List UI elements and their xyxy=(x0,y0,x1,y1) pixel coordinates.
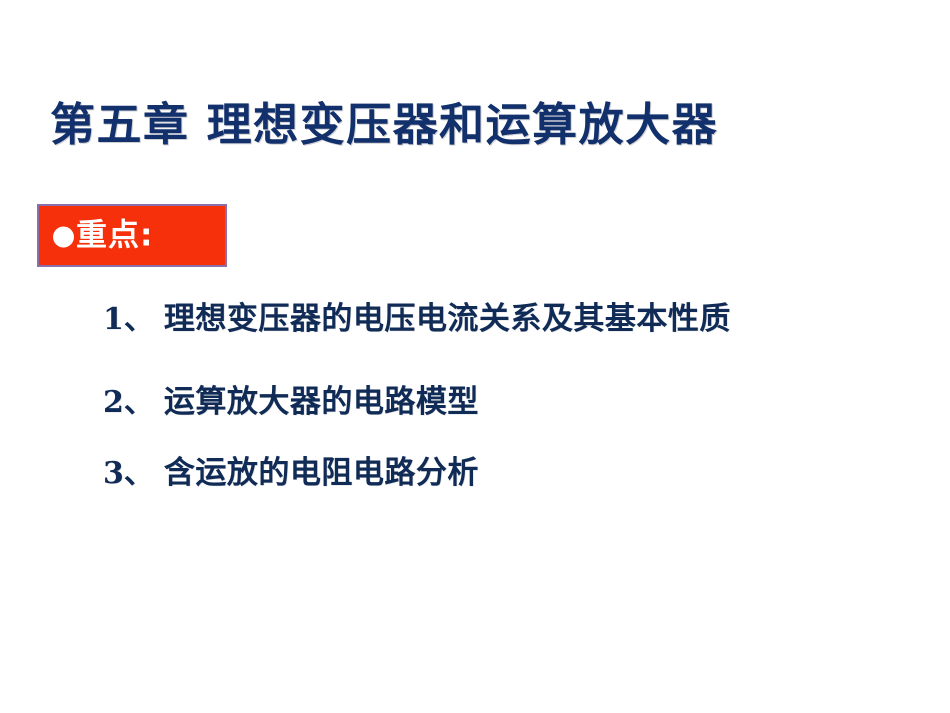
list-item: 3、含运放的电阻电路分析 xyxy=(103,454,903,493)
list-item-label: 理想变压器的电压电流关系及其基本性质 xyxy=(164,300,731,339)
list-item-label: 含运放的电阻电路分析 xyxy=(164,454,479,493)
list-item-separator: 、 xyxy=(124,301,154,339)
key-points-list: 1、理想变压器的电压电流关系及其基本性质 2、运算放大器的电路模型 3、含运放的… xyxy=(103,300,903,492)
list-item-number: 3 xyxy=(103,455,124,493)
key-points-label: 重点: xyxy=(76,220,153,251)
page-title: 第五章 理想变压器和运算放大器 xyxy=(50,92,912,158)
list-item-separator: 、 xyxy=(124,384,154,422)
key-points-banner-content: 重点: xyxy=(53,220,153,251)
list-item: 2、运算放大器的电路模型 xyxy=(103,383,903,422)
list-item-label: 运算放大器的电路模型 xyxy=(164,383,479,422)
filled-circle-icon xyxy=(53,226,74,247)
list-item-number: 2 xyxy=(103,384,124,422)
list-item-number: 1 xyxy=(103,301,124,339)
key-points-banner: 重点: xyxy=(37,204,227,267)
list-item-separator: 、 xyxy=(124,455,154,493)
presentation-slide: 第五章 理想变压器和运算放大器 重点: 1、理想变压器的电压电流关系及其基本性质… xyxy=(0,0,950,713)
list-item: 1、理想变压器的电压电流关系及其基本性质 xyxy=(103,300,903,339)
